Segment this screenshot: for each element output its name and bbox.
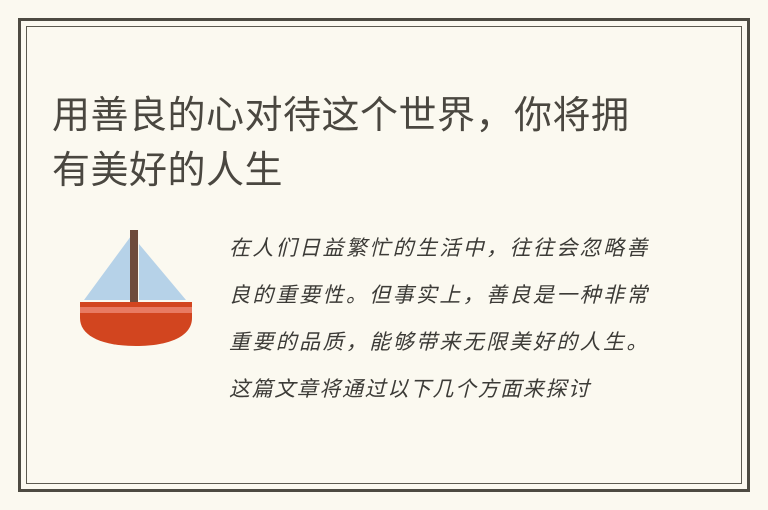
page-title: 用善良的心对待这个世界，你将拥有美好的人生 — [52, 89, 652, 199]
article-paragraph: 在人们日益繁忙的生活中，往往会忽略善良的重要性。但事实上，善良是一种非常重要的品… — [229, 225, 649, 413]
article-body-row: 在人们日益繁忙的生活中，往往会忽略善良的重要性。但事实上，善良是一种非常重要的品… — [26, 192, 742, 482]
article-card: 用善良的心对待这个世界，你将拥有美好的人生 — [0, 0, 768, 510]
card-content: 用善良的心对待这个世界，你将拥有美好的人生 — [26, 26, 742, 484]
sailboat-icon — [70, 218, 202, 350]
sailboat-illustration — [70, 218, 202, 350]
